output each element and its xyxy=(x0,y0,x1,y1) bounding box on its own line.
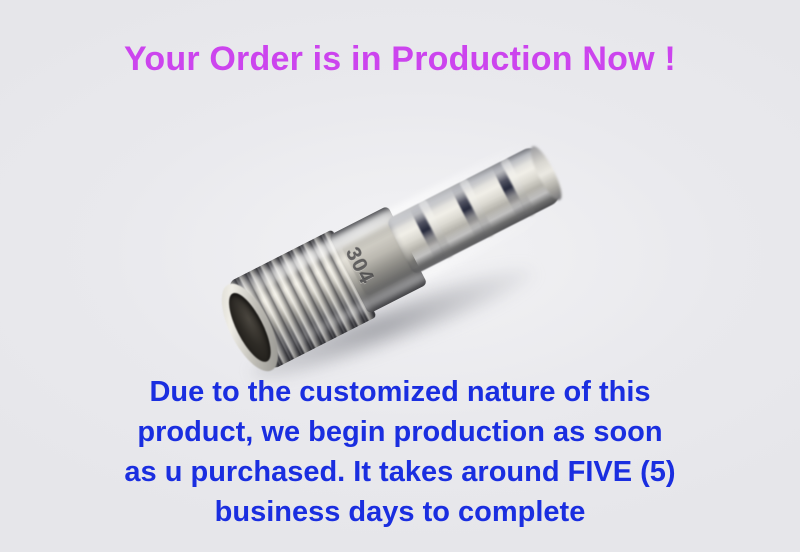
notice-line-1: Due to the customized nature of this xyxy=(0,372,800,412)
notice-line-3: as u purchased. It takes around FIVE (5) xyxy=(0,452,800,492)
notice-line-4: business days to complete xyxy=(0,492,800,532)
promo-banner: Your Order is in Production Now ! 304 xyxy=(0,0,800,552)
barb-end-cap xyxy=(525,143,566,204)
notice-line-2: product, we begin production as soon xyxy=(0,412,800,452)
page-title: Your Order is in Production Now ! xyxy=(0,38,800,80)
product-image: 304 xyxy=(215,150,615,365)
production-notice-text: Due to the customized nature of this pro… xyxy=(0,372,800,532)
